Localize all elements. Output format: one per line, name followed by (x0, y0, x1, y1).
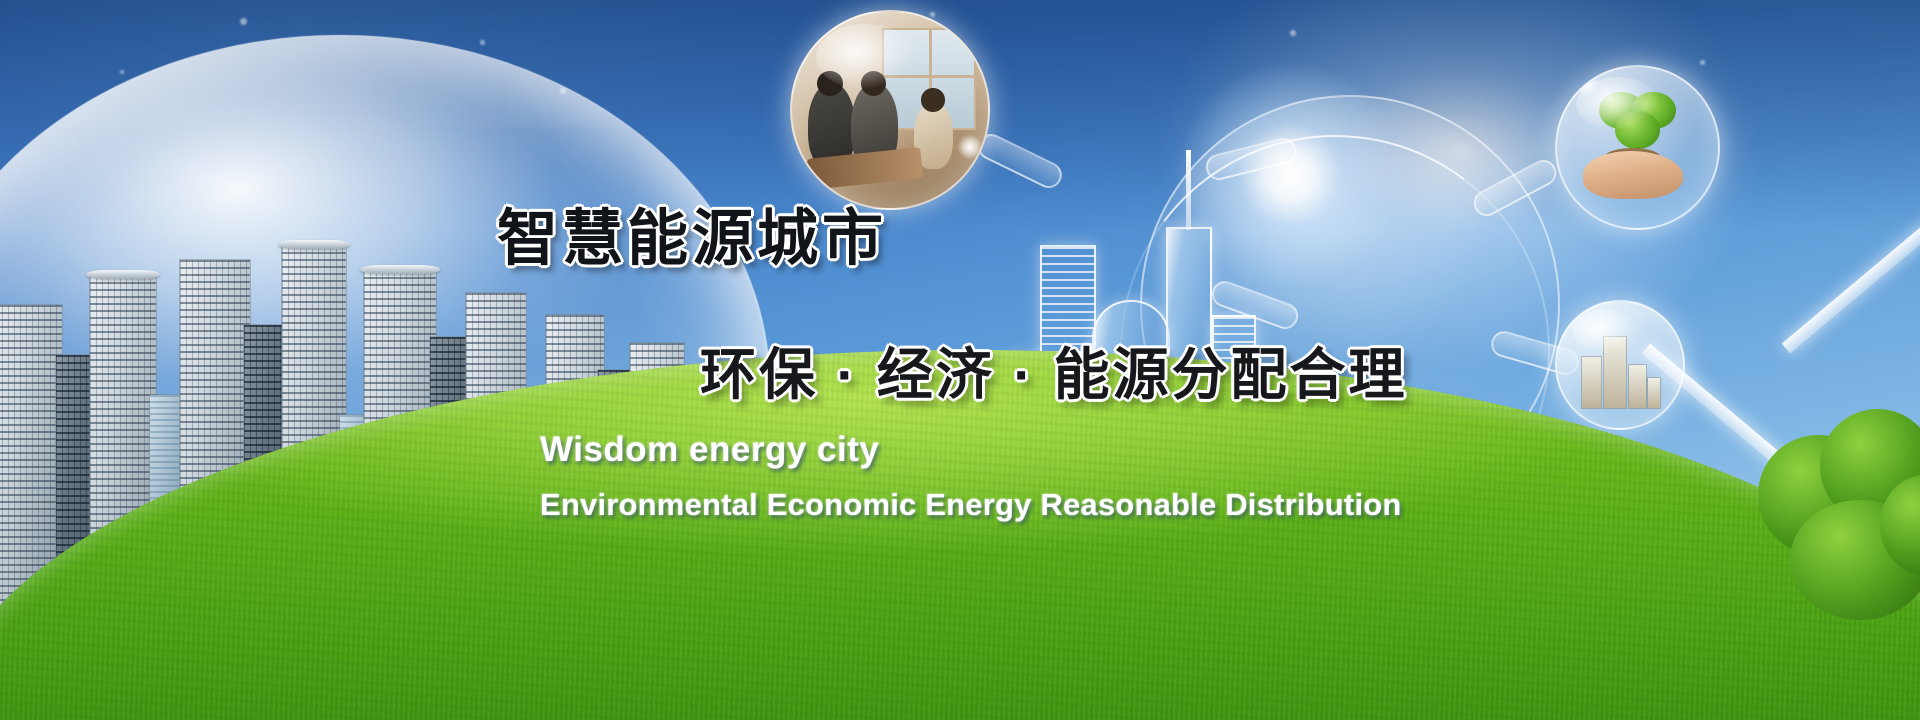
banner-text-block: 智慧能源城市 环保 · 经济 · 能源分配合理 Wisdom energy ci… (0, 0, 1920, 720)
energy-city-banner: 智慧能源城市 环保 · 经济 · 能源分配合理 Wisdom energy ci… (0, 0, 1920, 720)
subtitle: 环保 · 经济 · 能源分配合理 (700, 330, 1408, 411)
description-english: Environmental Economic Energy Reasonable… (540, 487, 1402, 523)
tagline-english: Wisdom energy city (540, 430, 879, 470)
page-title: 智慧能源城市 (497, 188, 887, 277)
